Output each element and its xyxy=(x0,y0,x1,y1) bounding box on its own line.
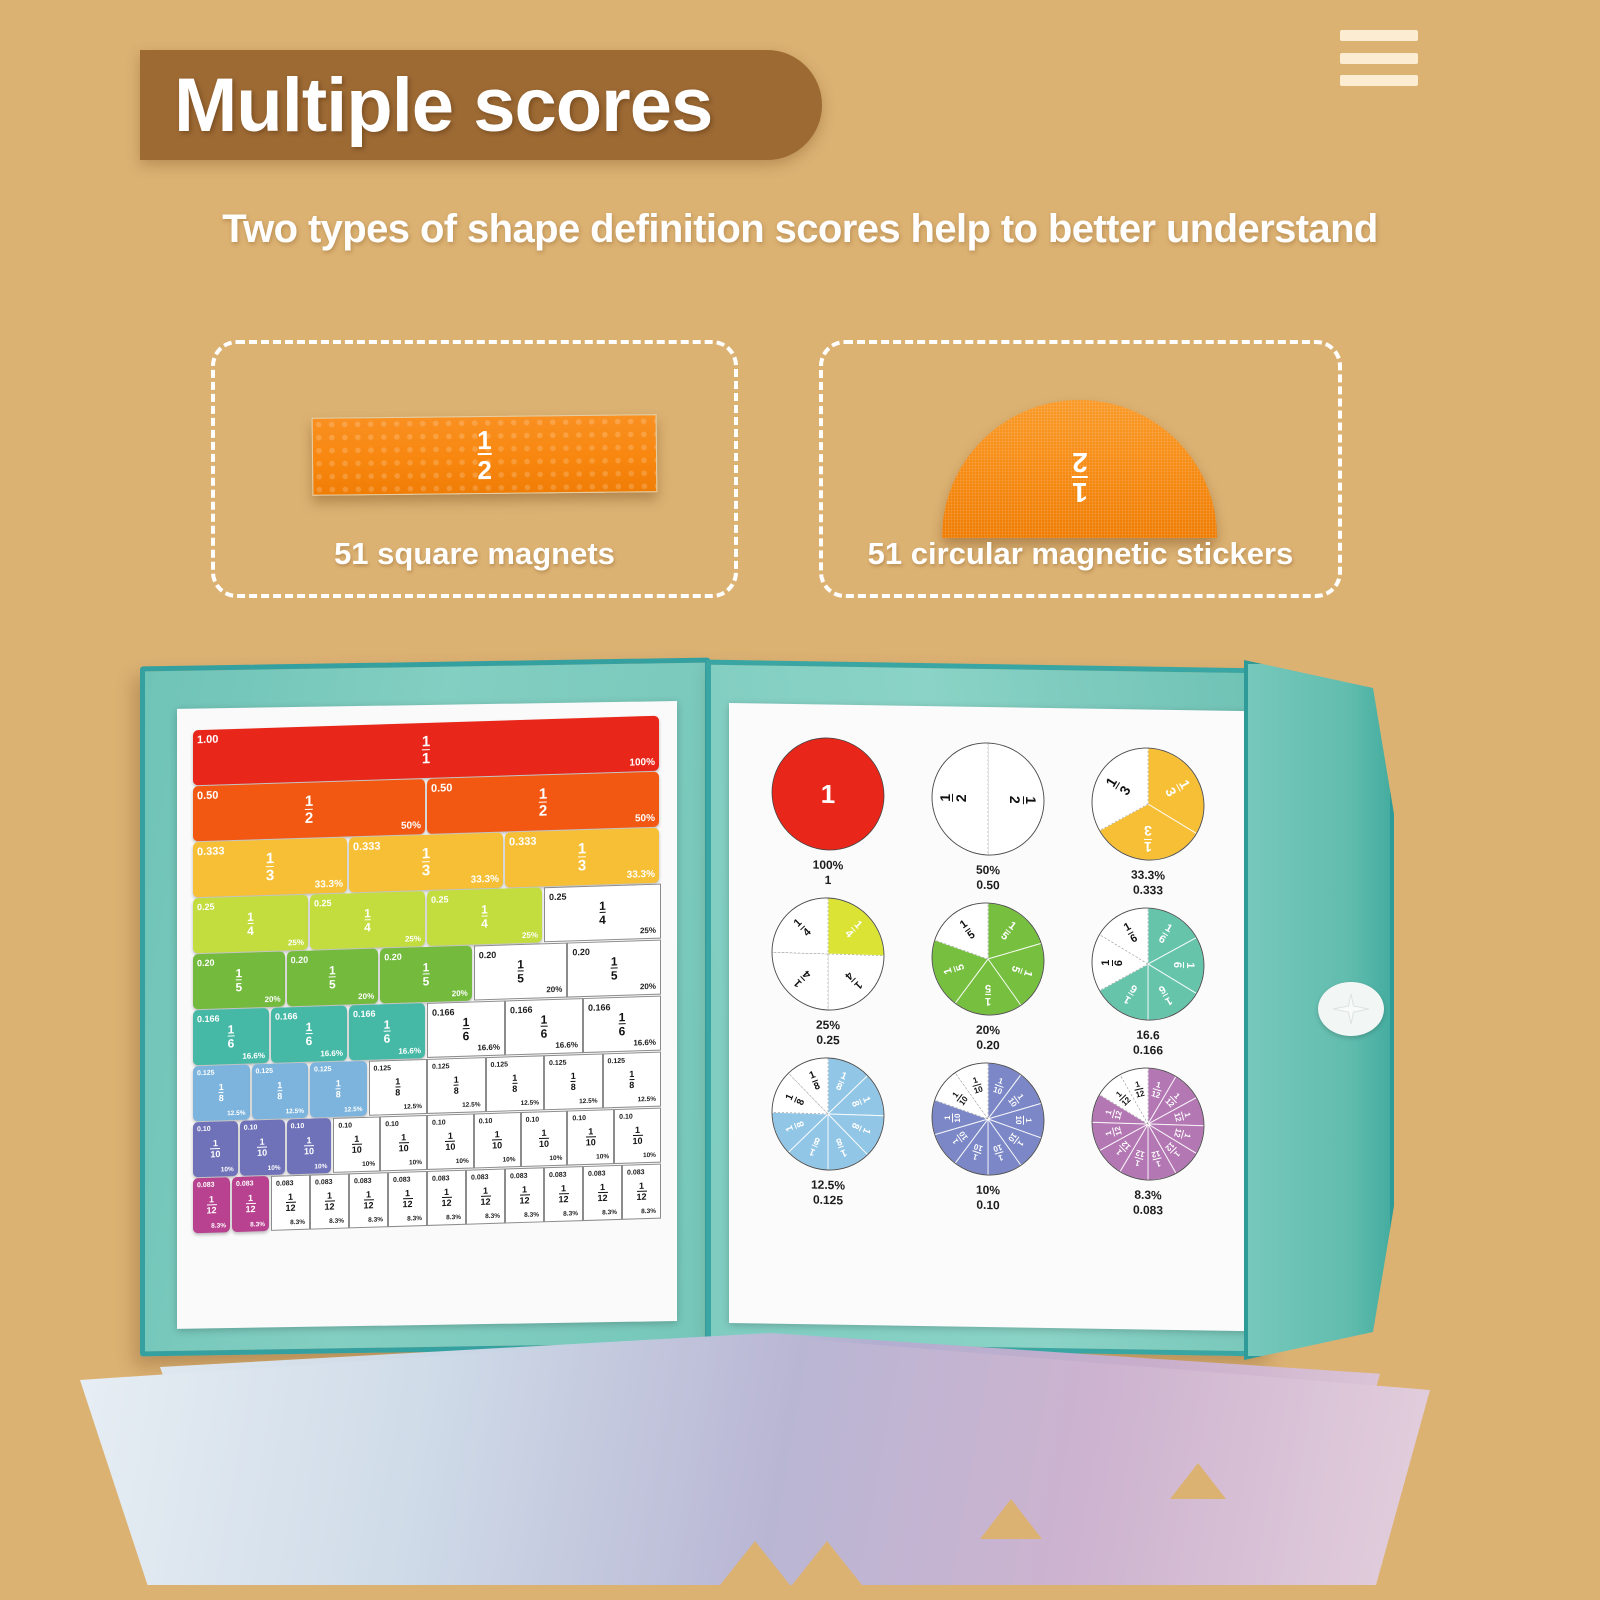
tile-percent: 12.5% xyxy=(286,1108,304,1116)
tile-decimal: 0.10 xyxy=(338,1122,352,1129)
magnet-fraction-denominator: 2 xyxy=(477,453,492,483)
tile-percent: 16.6% xyxy=(398,1046,421,1056)
circle-segment-fraction: 110 xyxy=(944,1113,962,1122)
fraction-tile[interactable]: 0.501250% xyxy=(427,772,659,834)
tile-fraction: 15 xyxy=(611,955,618,982)
tile-decimal: 0.125 xyxy=(314,1066,332,1074)
tile-percent: 8.3% xyxy=(524,1211,539,1218)
magnet-fraction-numerator: 1 xyxy=(477,427,492,453)
tile-decimal: 0.166 xyxy=(197,1013,220,1024)
tile-fraction: 110 xyxy=(492,1130,502,1151)
fraction-tile[interactable]: 0.1251812.5% xyxy=(252,1063,309,1120)
fraction-tile-slot[interactable]: 0.1661616.6% xyxy=(583,996,661,1053)
tile-fraction: 16 xyxy=(228,1023,235,1050)
fraction-circle-caption: 8.3%0.083 xyxy=(1075,1186,1221,1221)
tile-fraction: 11 xyxy=(422,734,430,768)
sparkle-icon xyxy=(1318,982,1384,1036)
tile-decimal: 0.125 xyxy=(197,1070,215,1078)
circle-decimal: 0.333 xyxy=(1075,881,1221,901)
circle-decimal: 0.20 xyxy=(915,1036,1061,1056)
tile-decimal: 0.083 xyxy=(627,1169,645,1177)
fraction-circle-cell: 13131333.3%0.333 xyxy=(1075,740,1221,901)
tile-fraction: 110 xyxy=(257,1137,267,1158)
tile-fraction: 12 xyxy=(305,793,313,827)
circle-segment-fraction: 13 xyxy=(1144,824,1152,854)
tile-percent: 10% xyxy=(362,1161,375,1168)
tile-percent: 100% xyxy=(629,757,655,769)
tile-percent: 8.3% xyxy=(641,1208,656,1215)
tile-percent: 25% xyxy=(288,938,304,948)
tile-percent: 12.5% xyxy=(344,1106,362,1114)
fraction-bars-grid: 1.0011100%0.501250%0.501250%0.3331333.3%… xyxy=(193,719,661,1230)
tile-decimal: 0.125 xyxy=(432,1063,450,1071)
fraction-circle-caption: 25%0.25 xyxy=(755,1016,901,1051)
tile-decimal: 0.10 xyxy=(244,1124,258,1131)
tile-percent: 10% xyxy=(314,1163,327,1170)
tile-fraction: 112 xyxy=(245,1193,255,1214)
feature-card-label-square-magnets: 51 square magnets xyxy=(215,536,734,572)
tile-fraction: 110 xyxy=(352,1134,362,1155)
tile-decimal: 0.166 xyxy=(588,1002,611,1013)
fraction-circle-caption: 20%0.20 xyxy=(915,1021,1061,1056)
tile-percent: 16.6% xyxy=(320,1049,343,1059)
fraction-tile[interactable]: 0.3331333.3% xyxy=(505,828,659,888)
tile-decimal: 0.10 xyxy=(432,1119,446,1126)
fraction-circle[interactable]: 1818181818181818 xyxy=(766,1050,890,1178)
tile-fraction: 18 xyxy=(336,1079,341,1100)
tile-fraction: 112 xyxy=(519,1185,529,1206)
tile-fraction: 112 xyxy=(206,1195,216,1216)
tile-decimal: 0.083 xyxy=(471,1174,489,1182)
fraction-tile-slot[interactable]: 0.1011010% xyxy=(474,1112,521,1168)
tile-percent: 10% xyxy=(643,1152,656,1159)
tile-fraction: 16 xyxy=(541,1013,548,1040)
tile-decimal: 0.083 xyxy=(276,1180,294,1188)
fraction-circle[interactable]: 112112112112112112112112112112112112 xyxy=(1086,1060,1210,1188)
fraction-tile[interactable]: 0.201520% xyxy=(287,949,379,1007)
tile-decimal: 1.00 xyxy=(197,734,218,747)
feature-card-label-circular-stickers: 51 circular magnetic stickers xyxy=(823,536,1338,572)
tile-fraction: 112 xyxy=(558,1184,568,1205)
tile-decimal: 0.125 xyxy=(374,1065,392,1073)
fraction-circle-cell: 151515151520%0.20 xyxy=(915,895,1061,1056)
circle-segment-fraction: 16 xyxy=(1171,962,1195,969)
tile-fraction: 18 xyxy=(454,1075,459,1096)
fraction-tile[interactable]: 0.201520% xyxy=(193,951,285,1009)
circle-decimal: 0.10 xyxy=(915,1196,1061,1216)
tile-percent: 16.6% xyxy=(555,1040,578,1050)
circle-decimal: 1 xyxy=(755,871,901,891)
fraction-tile-slot[interactable]: 0.1251812.5% xyxy=(427,1057,486,1114)
tile-fraction: 112 xyxy=(402,1188,412,1209)
tile-percent: 12.5% xyxy=(404,1103,422,1111)
fraction-tile[interactable]: 0.1661616.6% xyxy=(349,1003,425,1060)
tile-percent: 20% xyxy=(265,995,281,1005)
fraction-circle[interactable]: 110110110110110110110110110110 xyxy=(926,1055,1050,1183)
fraction-tile-slot[interactable]: 0.0831128.3% xyxy=(388,1171,427,1227)
sheet-notch-1 xyxy=(720,1541,790,1585)
tile-decimal: 0.125 xyxy=(491,1061,509,1069)
tile-decimal: 0.083 xyxy=(354,1178,372,1186)
tile-percent: 12.5% xyxy=(521,1099,539,1107)
tile-fraction: 16 xyxy=(306,1020,313,1047)
tile-percent: 10% xyxy=(503,1156,516,1163)
tile-decimal: 0.25 xyxy=(314,898,332,909)
tile-fraction: 13 xyxy=(266,851,274,885)
fraction-tile-slot[interactable]: 0.1011010% xyxy=(380,1115,427,1171)
feature-card-square-magnets: 1 2 51 square magnets xyxy=(211,340,738,598)
tile-decimal: 0.083 xyxy=(432,1175,450,1183)
tile-fraction: 15 xyxy=(329,964,336,991)
tile-percent: 16.6% xyxy=(633,1038,656,1048)
circle-segment-fraction: 1 xyxy=(821,781,835,807)
fraction-tile-slot[interactable]: 0.1011010% xyxy=(333,1116,380,1172)
tile-fraction: 110 xyxy=(210,1139,220,1160)
tile-fraction: 112 xyxy=(480,1186,490,1207)
tile-fraction: 112 xyxy=(597,1182,607,1203)
page-subtitle: Two types of shape definition scores hel… xyxy=(0,207,1600,252)
tile-decimal: 0.10 xyxy=(197,1126,211,1133)
tile-fraction: 14 xyxy=(481,903,488,930)
fraction-circle-cell: 1414141425%0.25 xyxy=(755,890,901,1051)
fraction-tile[interactable]: 0.0831128.3% xyxy=(232,1176,269,1232)
tile-decimal: 0.20 xyxy=(197,958,215,969)
tile-decimal: 0.10 xyxy=(526,1116,540,1123)
circle-segment-fraction: 110 xyxy=(1014,1115,1032,1124)
tile-decimal: 0.20 xyxy=(384,952,402,963)
tile-percent: 8.3% xyxy=(250,1221,265,1228)
fraction-tile[interactable]: 0.3331333.3% xyxy=(193,837,347,897)
tile-decimal: 0.10 xyxy=(619,1114,633,1121)
fraction-circle-caption: 12.5%0.125 xyxy=(755,1176,901,1211)
tile-percent: 12.5% xyxy=(462,1101,480,1109)
fraction-tile[interactable]: 0.3331333.3% xyxy=(349,833,503,893)
fraction-circle-caption: 33.3%0.333 xyxy=(1075,866,1221,901)
tile-percent: 8.3% xyxy=(329,1218,344,1225)
fraction-circle-cell: 121250%0.50 xyxy=(915,735,1061,896)
tile-percent: 50% xyxy=(635,813,655,825)
fraction-circle-caption: 10%0.10 xyxy=(915,1181,1061,1216)
circle-segment-fraction: 15 xyxy=(985,982,991,1006)
tile-percent: 12.5% xyxy=(579,1098,597,1106)
circle-segment-fraction: 12 xyxy=(938,794,968,803)
fraction-tile-slot[interactable]: 0.0831128.3% xyxy=(544,1166,583,1222)
tile-fraction: 16 xyxy=(619,1011,626,1038)
fraction-tile[interactable]: 0.501250% xyxy=(193,779,425,841)
tile-decimal: 0.166 xyxy=(510,1005,533,1016)
tile-fraction: 112 xyxy=(324,1191,334,1212)
fraction-circle[interactable]: 131313 xyxy=(1086,740,1210,868)
circle-decimal: 0.50 xyxy=(915,876,1061,896)
tile-fraction: 112 xyxy=(285,1192,295,1213)
tile-decimal: 0.125 xyxy=(608,1058,626,1066)
tile-percent: 10% xyxy=(456,1158,469,1165)
tile-fraction: 18 xyxy=(512,1073,517,1094)
tile-decimal: 0.083 xyxy=(588,1170,606,1178)
page-title-banner: Multiple scores xyxy=(140,50,822,160)
tile-decimal: 0.25 xyxy=(431,894,449,905)
tile-percent: 33.3% xyxy=(471,874,499,886)
tile-decimal: 0.083 xyxy=(236,1180,254,1188)
fraction-tile-slot[interactable]: 0.1011010% xyxy=(614,1108,661,1164)
fraction-tile-slot[interactable]: 0.0831128.3% xyxy=(427,1170,466,1226)
tile-percent: 8.3% xyxy=(290,1219,305,1226)
book-cover-right: 1100%1121250%0.5013131333.3%0.3331414141… xyxy=(706,660,1264,1357)
tile-fraction: 110 xyxy=(304,1136,314,1157)
tile-decimal: 0.333 xyxy=(197,845,225,858)
tile-fraction: 14 xyxy=(364,907,371,934)
tile-percent: 8.3% xyxy=(407,1215,422,1222)
tile-fraction: 112 xyxy=(441,1187,451,1208)
tile-decimal: 0.083 xyxy=(393,1176,411,1184)
fraction-circle-caption: 100%1 xyxy=(755,856,901,891)
tile-percent: 8.3% xyxy=(485,1213,500,1220)
fraction-circle[interactable]: 1212 xyxy=(926,735,1050,863)
fraction-tile-slot[interactable]: 0.0831128.3% xyxy=(349,1172,388,1228)
circle-segment-fraction: 16 xyxy=(1101,960,1125,967)
tile-decimal: 0.125 xyxy=(256,1068,274,1076)
tile-decimal: 0.083 xyxy=(315,1179,333,1187)
tile-decimal: 0.083 xyxy=(510,1173,528,1181)
fraction-tile[interactable]: 0.1661616.6% xyxy=(271,1005,347,1062)
magnet-fraction-label: 1 2 xyxy=(477,427,492,483)
tile-percent: 25% xyxy=(405,934,421,944)
fraction-tile-slot[interactable]: 0.0831128.3% xyxy=(310,1173,349,1229)
fraction-tile[interactable]: 0.1011010% xyxy=(240,1119,285,1175)
fraction-tile[interactable]: 0.1251812.5% xyxy=(310,1061,367,1118)
fraction-tile-slot[interactable]: 0.1251812.5% xyxy=(544,1053,603,1110)
book-page-fraction-bars: 1.0011100%0.501250%0.501250%0.3331333.3%… xyxy=(177,701,677,1329)
tile-percent: 8.3% xyxy=(211,1222,226,1229)
book-page-fraction-circles: 1100%1121250%0.5013131333.3%0.3331414141… xyxy=(729,703,1249,1331)
fraction-tile-slot[interactable]: 0.251425% xyxy=(544,884,661,943)
fraction-tile-slot[interactable]: 0.1251812.5% xyxy=(486,1055,545,1112)
tile-percent: 25% xyxy=(522,930,538,940)
fraction-tile[interactable]: 0.251425% xyxy=(310,891,425,950)
tile-decimal: 0.10 xyxy=(385,1121,399,1128)
fraction-tile-slot[interactable]: 0.1251812.5% xyxy=(603,1052,662,1109)
tile-percent: 16.6% xyxy=(477,1043,500,1053)
fraction-tile-slot[interactable]: 0.201520% xyxy=(474,943,568,1001)
circle-decimal: 0.083 xyxy=(1075,1201,1221,1221)
fraction-tile-slot[interactable]: 0.1011010% xyxy=(427,1113,474,1169)
fraction-tile[interactable]: 0.1011010% xyxy=(193,1121,238,1177)
hamburger-bar-3 xyxy=(1340,75,1418,86)
tile-percent: 10% xyxy=(221,1166,234,1173)
tile-fraction: 18 xyxy=(571,1071,576,1092)
tile-decimal: 0.25 xyxy=(197,902,215,913)
hamburger-bar-2 xyxy=(1340,53,1418,64)
circle-decimal: 0.166 xyxy=(1075,1041,1221,1061)
tile-fraction: 110 xyxy=(399,1133,409,1154)
fraction-circle[interactable]: 14141414 xyxy=(766,890,890,1018)
fraction-tile-slot[interactable]: 0.1011010% xyxy=(521,1111,568,1167)
tile-fraction: 14 xyxy=(247,910,254,937)
tile-decimal: 0.333 xyxy=(353,840,381,853)
tile-decimal: 0.50 xyxy=(197,790,218,803)
tile-percent: 8.3% xyxy=(446,1214,461,1221)
fraction-circle-cell: 1121121121121121121121121121121121128.3%… xyxy=(1075,1060,1221,1221)
tile-fraction: 112 xyxy=(636,1181,646,1202)
sticker-fraction-label: 1 2 xyxy=(1072,448,1088,506)
sticker-fraction-numerator: 1 xyxy=(1072,478,1088,506)
tile-fraction: 15 xyxy=(517,958,524,985)
tile-percent: 8.3% xyxy=(368,1216,383,1223)
tile-fraction: 112 xyxy=(363,1190,373,1211)
tile-fraction: 15 xyxy=(235,967,242,994)
fraction-tile-slot[interactable]: 0.1251812.5% xyxy=(369,1059,428,1116)
tile-fraction: 18 xyxy=(395,1077,400,1098)
tile-percent: 25% xyxy=(640,926,656,936)
fraction-tile-slot[interactable]: 0.0831128.3% xyxy=(583,1165,622,1221)
fraction-tile[interactable]: 0.1251812.5% xyxy=(193,1065,250,1122)
hamburger-menu-icon[interactable] xyxy=(1340,30,1418,86)
sheet-notch-3 xyxy=(980,1499,1042,1539)
tile-percent: 20% xyxy=(452,989,468,999)
tile-percent: 16.6% xyxy=(242,1051,265,1061)
fraction-tile[interactable]: 0.251425% xyxy=(193,895,308,954)
tile-fraction: 18 xyxy=(277,1081,282,1102)
tile-percent: 33.3% xyxy=(627,869,655,881)
sheet-notch-4 xyxy=(1170,1463,1226,1499)
tile-fraction: 18 xyxy=(629,1070,634,1091)
circular-sticker-sample: 1 2 xyxy=(942,400,1217,538)
tile-fraction: 16 xyxy=(384,1018,391,1045)
sticker-fraction-denominator: 2 xyxy=(1072,448,1088,478)
fraction-tile[interactable]: 0.251425% xyxy=(427,887,542,946)
tile-decimal: 0.166 xyxy=(275,1011,298,1022)
tile-decimal: 0.10 xyxy=(572,1115,586,1122)
book-cover-left: 1.0011100%0.501250%0.501250%0.3331333.3%… xyxy=(140,658,710,1357)
tile-fraction: 15 xyxy=(423,961,430,988)
tile-fraction: 110 xyxy=(586,1127,596,1148)
tile-percent: 10% xyxy=(596,1153,609,1160)
tile-decimal: 0.166 xyxy=(353,1009,376,1020)
tile-decimal: 0.20 xyxy=(291,955,309,966)
circle-decimal: 0.25 xyxy=(755,1031,901,1051)
tile-decimal: 0.083 xyxy=(549,1172,567,1180)
tile-decimal: 0.125 xyxy=(549,1060,567,1068)
tile-percent: 50% xyxy=(401,820,421,832)
tile-decimal: 0.20 xyxy=(572,947,590,958)
tile-fraction: 13 xyxy=(422,846,430,880)
fraction-circle-cell: 181818181818181812.5%0.125 xyxy=(755,1050,901,1211)
fraction-tile[interactable]: 0.0831128.3% xyxy=(193,1177,230,1233)
tile-decimal: 0.50 xyxy=(431,782,452,795)
circle-decimal: 0.125 xyxy=(755,1191,901,1211)
fraction-tile[interactable]: 0.1011010% xyxy=(287,1118,332,1174)
fraction-tile-slot[interactable]: 0.1011010% xyxy=(567,1109,614,1165)
fraction-circle[interactable]: 1515151515 xyxy=(926,895,1050,1023)
sheet-notch-2 xyxy=(792,1541,862,1585)
tile-decimal: 0.083 xyxy=(197,1182,215,1190)
tile-percent: 33.3% xyxy=(315,879,343,891)
tile-fraction: 18 xyxy=(219,1082,224,1103)
tile-decimal: 0.10 xyxy=(479,1118,493,1125)
fraction-circles-grid: 1100%1121250%0.5013131333.3%0.3331414141… xyxy=(755,730,1225,1221)
sticker-sheets xyxy=(60,1295,1480,1595)
fraction-tile-slot[interactable]: 0.1661616.6% xyxy=(505,998,583,1055)
tile-fraction: 110 xyxy=(539,1128,549,1149)
circle-segment-fraction: 12 xyxy=(1008,796,1038,805)
fraction-tile[interactable]: 0.201520% xyxy=(380,946,472,1004)
fraction-tile-slot[interactable]: 0.0831128.3% xyxy=(271,1175,310,1231)
fraction-tile[interactable]: 0.1661616.6% xyxy=(193,1008,269,1065)
fraction-circle-cell: 16161616161616.60.166 xyxy=(1075,900,1221,1061)
fraction-tile-slot[interactable]: 0.0831128.3% xyxy=(505,1167,544,1223)
feature-card-circular-stickers: 1 2 51 circular magnetic stickers xyxy=(819,340,1342,598)
tile-percent: 20% xyxy=(358,992,374,1002)
tile-fraction: 13 xyxy=(578,841,586,875)
tile-percent: 20% xyxy=(546,985,562,995)
hamburger-bar-1 xyxy=(1340,30,1418,41)
fraction-tile-slot[interactable]: 0.0831128.3% xyxy=(622,1164,661,1220)
tile-percent: 10% xyxy=(409,1159,422,1166)
tile-percent: 8.3% xyxy=(602,1209,617,1216)
fraction-tile-slot[interactable]: 0.1661616.6% xyxy=(427,1001,505,1058)
tile-fraction: 12 xyxy=(539,786,547,820)
fraction-tile-slot[interactable]: 0.201520% xyxy=(567,940,661,998)
tile-decimal: 0.166 xyxy=(432,1007,455,1018)
tile-fraction: 14 xyxy=(599,899,606,926)
fraction-circle-caption: 16.60.166 xyxy=(1075,1026,1221,1061)
tile-decimal: 0.333 xyxy=(509,836,537,849)
tile-decimal: 0.25 xyxy=(549,892,567,903)
page-title: Multiple scores xyxy=(174,62,712,149)
tile-percent: 20% xyxy=(640,982,656,992)
flap-note xyxy=(0,640,1,641)
tile-percent: 12.5% xyxy=(638,1096,656,1104)
fraction-circle-caption: 50%0.50 xyxy=(915,861,1061,896)
fraction-circle[interactable]: 1 xyxy=(766,730,890,858)
fraction-circle[interactable]: 161616161616 xyxy=(1086,900,1210,1028)
tile-fraction: 110 xyxy=(633,1125,643,1146)
fraction-circle-cell: 11011011011011011011011011011010%0.10 xyxy=(915,1055,1061,1216)
square-magnet-sample: 1 2 xyxy=(312,414,658,496)
tile-decimal: 0.20 xyxy=(479,950,497,961)
fraction-circle-cell: 1100%1 xyxy=(755,730,901,891)
tile-fraction: 16 xyxy=(463,1016,470,1043)
tile-percent: 12.5% xyxy=(227,1110,245,1118)
tile-fraction: 110 xyxy=(445,1131,455,1152)
fraction-tile-slot[interactable]: 0.0831128.3% xyxy=(466,1169,505,1225)
tile-decimal: 0.10 xyxy=(291,1123,305,1130)
tile-percent: 8.3% xyxy=(563,1210,578,1217)
tile-percent: 10% xyxy=(549,1155,562,1162)
tile-percent: 10% xyxy=(268,1165,281,1172)
